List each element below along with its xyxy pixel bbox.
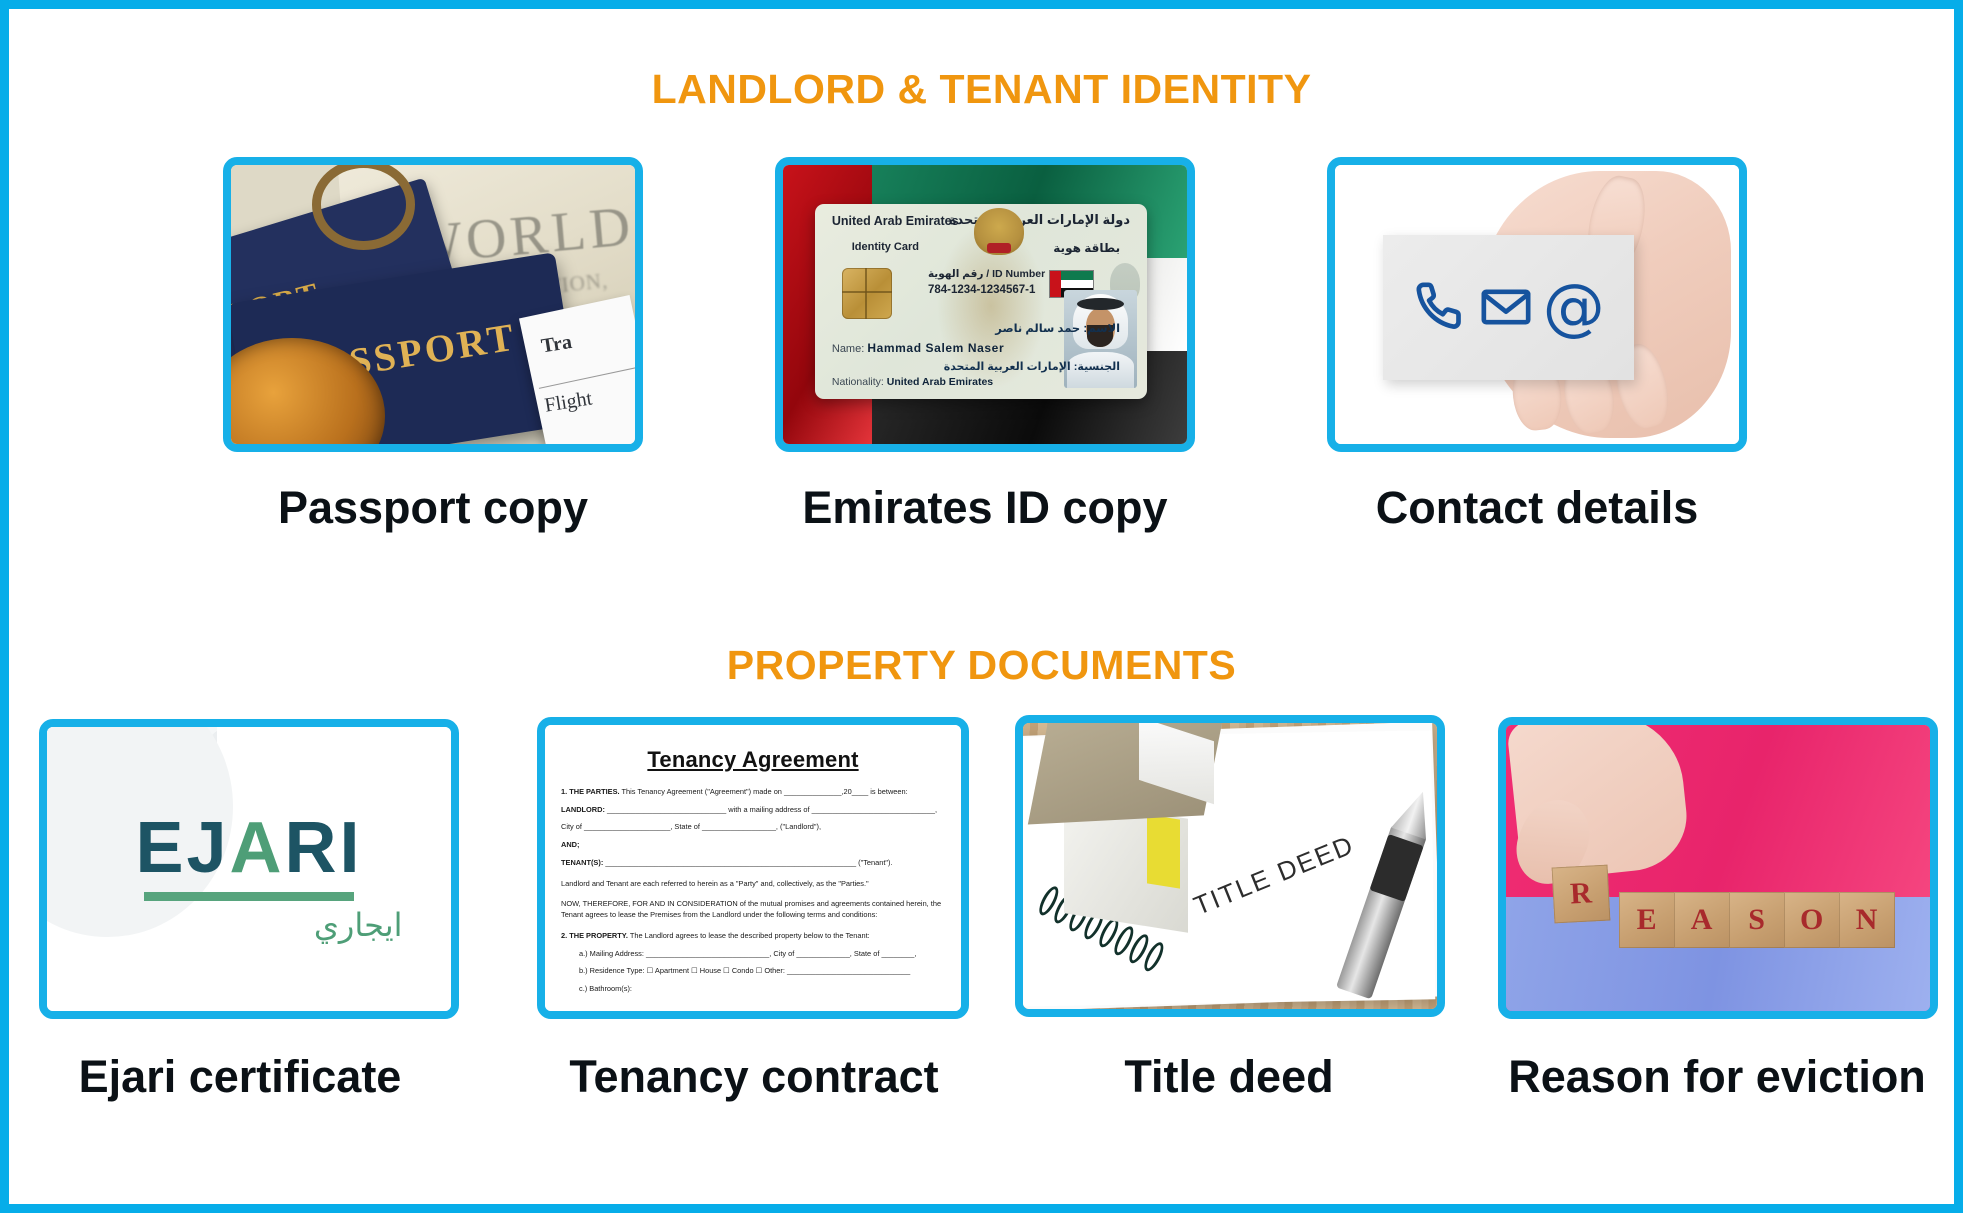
tenancy-tenant-line: TENANT(S): _____________________________… — [561, 858, 945, 869]
tenancy-landlord-label: LANDLORD: — [561, 805, 605, 814]
uae-falcon-emblem-icon — [974, 208, 1024, 255]
caption-title-deed: Title deed — [1009, 1054, 1449, 1099]
ejari-word-part1: EJ — [135, 808, 229, 888]
tenancy-item-c: c.) Bathroom(s): — [579, 984, 945, 995]
compass-ring-icon — [312, 159, 415, 250]
tenancy-clause-1-label: 1. THE PARTIES. — [561, 787, 620, 796]
block-letter: E — [1619, 892, 1675, 948]
smartcard-chip-icon — [842, 268, 892, 319]
tenancy-clause-1-text: This Tenancy Agreement ("Agreement") mad… — [622, 787, 908, 796]
tenancy-agreement-document: Tenancy Agreement 1. THE PARTIES. This T… — [545, 725, 961, 1011]
tenancy-clause-1: 1. THE PARTIES. This Tenancy Agreement (… — [561, 787, 945, 798]
ticket-divider — [538, 366, 638, 388]
ejari-underline — [144, 892, 354, 901]
caption-passport-copy: Passport copy — [159, 485, 707, 530]
eid-name-value-en: Hammad Salem Naser — [867, 341, 1004, 355]
eid-nationality-value-en: United Arab Emirates — [887, 376, 993, 388]
block-letter: N — [1839, 892, 1895, 948]
eid-name-en: Name: Hammad Salem Naser — [832, 341, 1004, 355]
tenancy-doc-title: Tenancy Agreement — [561, 747, 945, 773]
card-contact-details[interactable]: @ — [1327, 157, 1747, 452]
tenancy-city-line: City of _____________________, State of … — [561, 822, 945, 833]
envelope-icon — [1478, 279, 1534, 335]
eid-nationality-ar: الجنسية: الإمارات العربية المتحدة — [944, 360, 1120, 373]
eid-name-label-en: Name: — [832, 343, 864, 355]
ejari-graphic: EJARI ايجاري — [47, 727, 451, 1011]
block-letter: A — [1674, 892, 1730, 948]
at-sign-icon: @ — [1543, 276, 1605, 338]
block-letter: S — [1729, 892, 1785, 948]
business-card: @ — [1383, 235, 1633, 380]
eid-id-number-label: ID Number / رقم الهوية — [928, 268, 1045, 280]
card-passport-copy[interactable]: WORLD OR'S PROJECTION, ALSO THE PORT PAS… — [223, 157, 643, 452]
caption-tenancy-contract: Tenancy contract — [479, 1054, 1029, 1099]
tenancy-item-a: a.) Mailing Address: ___________________… — [579, 949, 945, 960]
card-emirates-id-copy[interactable]: United Arab Emirates Identity Card دولة … — [775, 157, 1195, 452]
caption-ejari-certificate: Ejari certificate — [0, 1054, 485, 1099]
tenancy-item-b: b.) Residence Type: ☐ Apartment ☐ House … — [579, 966, 945, 977]
card-ejari-certificate[interactable]: EJARI ايجاري — [39, 719, 459, 1019]
caption-emirates-id-copy: Emirates ID copy — [711, 485, 1259, 530]
eid-country-en: United Arab Emirates — [832, 214, 959, 228]
emirates-id-card: United Arab Emirates Identity Card دولة … — [815, 204, 1146, 399]
phone-icon — [1413, 279, 1469, 335]
ejari-arabic-text: ايجاري — [314, 906, 403, 944]
mini-flag-red — [1050, 271, 1061, 296]
tenancy-tenant-label: TENANT(S): — [561, 858, 603, 867]
tenancy-landlord-text: _____________________________ with a mai… — [607, 805, 937, 814]
infographic-page: LANDLORD & TENANT IDENTITY WORLD OR'S PR… — [0, 0, 1963, 1213]
eid-id-number-value: 784-1234-1234567-1 — [928, 284, 1035, 296]
caption-reason-for-eviction: Reason for eviction — [1457, 1054, 1963, 1099]
ticket-line-2: Flight — [543, 387, 594, 417]
eid-doctype-ar: بطاقة هوية — [1053, 241, 1120, 255]
card-reason-for-eviction[interactable]: R E A S O N — [1498, 717, 1938, 1019]
tenancy-clause-2: 2. THE PROPERTY. The Landlord agrees to … — [561, 931, 945, 942]
ejari-word-a: A — [230, 808, 285, 888]
ejari-wordmark: EJARI — [47, 812, 451, 884]
caption-contact-details: Contact details — [1263, 485, 1811, 530]
card-tenancy-contract[interactable]: Tenancy Agreement 1. THE PARTIES. This T… — [537, 717, 969, 1019]
tenancy-and-label: AND; — [561, 840, 945, 851]
eid-nationality-en: Nationality: United Arab Emirates — [832, 376, 993, 388]
section-title-property: PROPERTY DOCUMENTS — [9, 645, 1954, 686]
eid-nationality-label-en: Nationality: — [832, 376, 884, 388]
block-letter: R — [1551, 865, 1610, 924]
passport-photo: WORLD OR'S PROJECTION, ALSO THE PORT PAS… — [231, 165, 635, 444]
tenancy-consideration: NOW, THEREFORE, FOR AND IN CONSIDERATION… — [561, 899, 945, 920]
tenancy-clause-2-label: 2. THE PROPERTY. — [561, 931, 628, 940]
tenancy-party-note: Landlord and Tenant are each referred to… — [561, 879, 945, 890]
card-title-deed[interactable]: TITLE DEED — [1015, 715, 1445, 1017]
contact-photo: @ — [1335, 165, 1739, 444]
block-letter: O — [1784, 892, 1840, 948]
ticket-line-1: Tra — [539, 330, 573, 358]
ejari-word-part2: RI — [285, 808, 363, 888]
section-title-identity: LANDLORD & TENANT IDENTITY — [9, 69, 1954, 110]
title-deed-photo: TITLE DEED — [1023, 723, 1437, 1009]
tenancy-tenant-text: ________________________________________… — [605, 858, 892, 867]
reason-blocks-photo: R E A S O N — [1506, 725, 1930, 1011]
eid-name-ar: الاسم: حمد سالم ناصر — [995, 321, 1120, 335]
ejari-logo-icon: EJARI — [47, 812, 451, 901]
model-house-door — [1147, 815, 1180, 889]
wooden-blocks-icon: R E A S O N — [1553, 892, 1894, 948]
tenancy-landlord-line: LANDLORD: _____________________________ … — [561, 805, 945, 816]
eid-doctype-en: Identity Card — [852, 241, 919, 253]
tenancy-clause-2-text: The Landlord agrees to lease the describ… — [630, 931, 870, 940]
